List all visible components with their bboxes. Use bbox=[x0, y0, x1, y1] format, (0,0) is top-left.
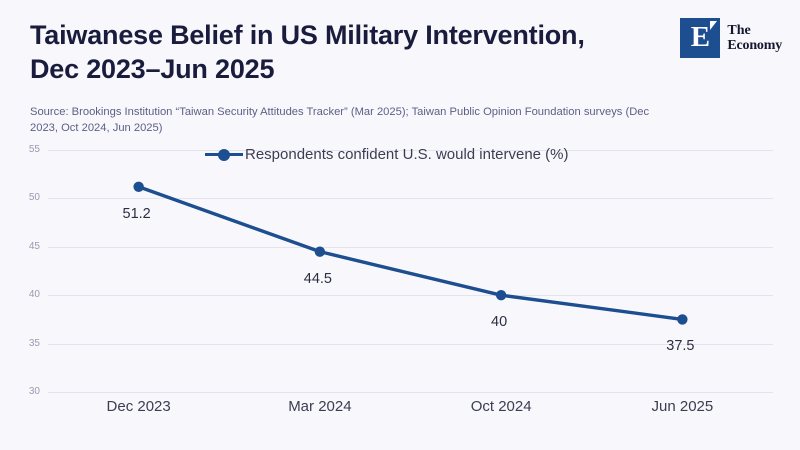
x-axis-tick-label: Oct 2024 bbox=[421, 398, 581, 415]
plot-area: 555045403530 51.244.54037.5 Dec 2023Mar … bbox=[0, 140, 800, 450]
data-point-label: 44.5 bbox=[273, 271, 363, 287]
chart-page: Taiwanese Belief in US Military Interven… bbox=[0, 0, 800, 450]
data-point-marker[interactable] bbox=[133, 182, 143, 192]
logo-wordmark: The Economy bbox=[727, 23, 782, 53]
logo-letter: E bbox=[691, 23, 710, 52]
line-chart: 555045403530 51.244.54037.5 Dec 2023Mar … bbox=[0, 140, 800, 450]
data-point-marker[interactable] bbox=[315, 246, 325, 256]
chart-header: Taiwanese Belief in US Military Interven… bbox=[0, 0, 800, 140]
logo-square-icon: E bbox=[680, 18, 720, 58]
data-point-marker[interactable] bbox=[677, 314, 687, 324]
x-axis-tick-label: Jun 2025 bbox=[602, 398, 762, 415]
series-path bbox=[139, 187, 683, 320]
logo-wordmark-line2: Economy bbox=[727, 38, 782, 53]
logo-flag-icon bbox=[710, 21, 717, 30]
chart-legend[interactable]: Respondents confident U.S. would interve… bbox=[205, 144, 569, 164]
data-point-label: 51.2 bbox=[92, 206, 182, 222]
legend-marker-icon bbox=[205, 147, 243, 161]
page-title: Taiwanese Belief in US Military Interven… bbox=[30, 18, 660, 86]
legend-label: Respondents confident U.S. would interve… bbox=[245, 146, 569, 163]
logo-wordmark-line1: The bbox=[727, 23, 782, 38]
source-note: Source: Brookings Institution “Taiwan Se… bbox=[30, 104, 670, 136]
x-axis-tick-label: Dec 2023 bbox=[59, 398, 219, 415]
brand-logo: E The Economy bbox=[680, 18, 782, 58]
data-point-label: 40 bbox=[454, 314, 544, 330]
data-point-marker[interactable] bbox=[496, 290, 506, 300]
x-axis-tick-label: Mar 2024 bbox=[240, 398, 400, 415]
data-point-label: 37.5 bbox=[635, 338, 725, 354]
